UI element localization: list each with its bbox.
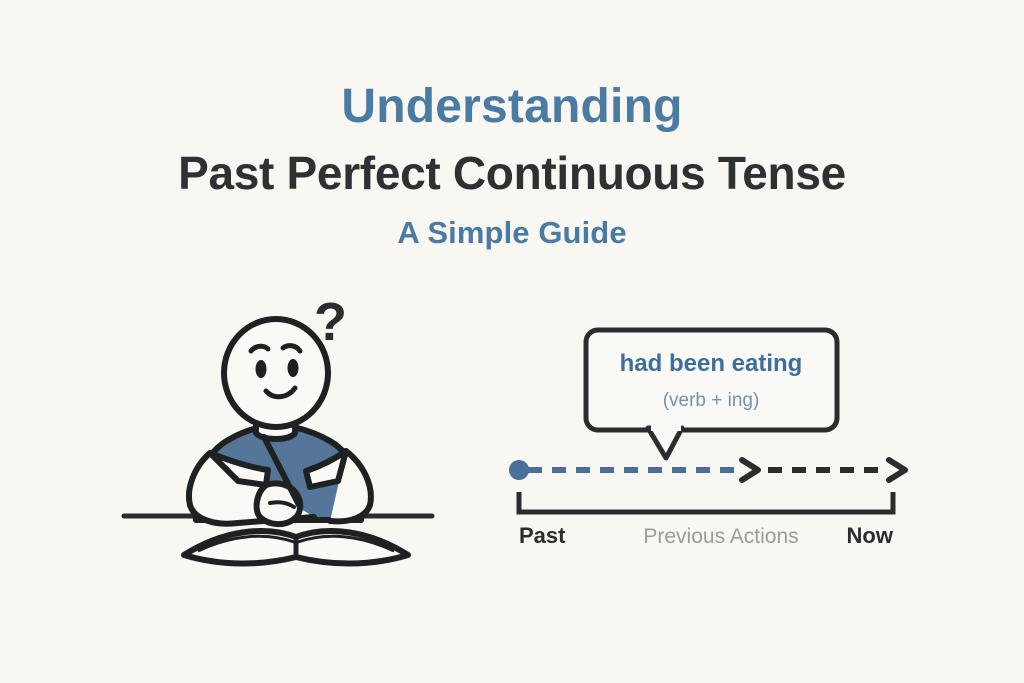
title-block: Understanding Past Perfect Continuous Te… [0,82,1024,249]
timeline-span-bracket [519,492,893,512]
head [224,319,328,427]
timeline-arrowhead-mid [742,460,758,480]
speech-bubble [586,330,837,430]
eye-right [288,359,299,377]
page-subtitle: A Simple Guide [0,217,1024,250]
page-title-secondary: Past Perfect Continuous Tense [0,149,1024,197]
timeline-diagram: had been eating (verb + ing) Past Previo… [470,318,940,563]
timeline-arrowhead-end [889,460,905,480]
timeline-label-past: Past [519,523,566,548]
page-title-primary: Understanding [0,82,1024,132]
timeline-label-previous-actions: Previous Actions [643,525,798,548]
speech-bubble-tail [648,428,682,458]
student-illustration: ? [118,285,438,570]
timeline-label-now: Now [847,523,894,548]
timeline-start-dot [509,460,529,480]
poster-canvas: Understanding Past Perfect Continuous Te… [0,0,1024,683]
eye-left [256,360,267,378]
verb-phrase-label: had been eating [620,350,803,377]
tail-seam-mask [651,421,681,431]
verb-formula-label: (verb + ing) [663,390,760,411]
